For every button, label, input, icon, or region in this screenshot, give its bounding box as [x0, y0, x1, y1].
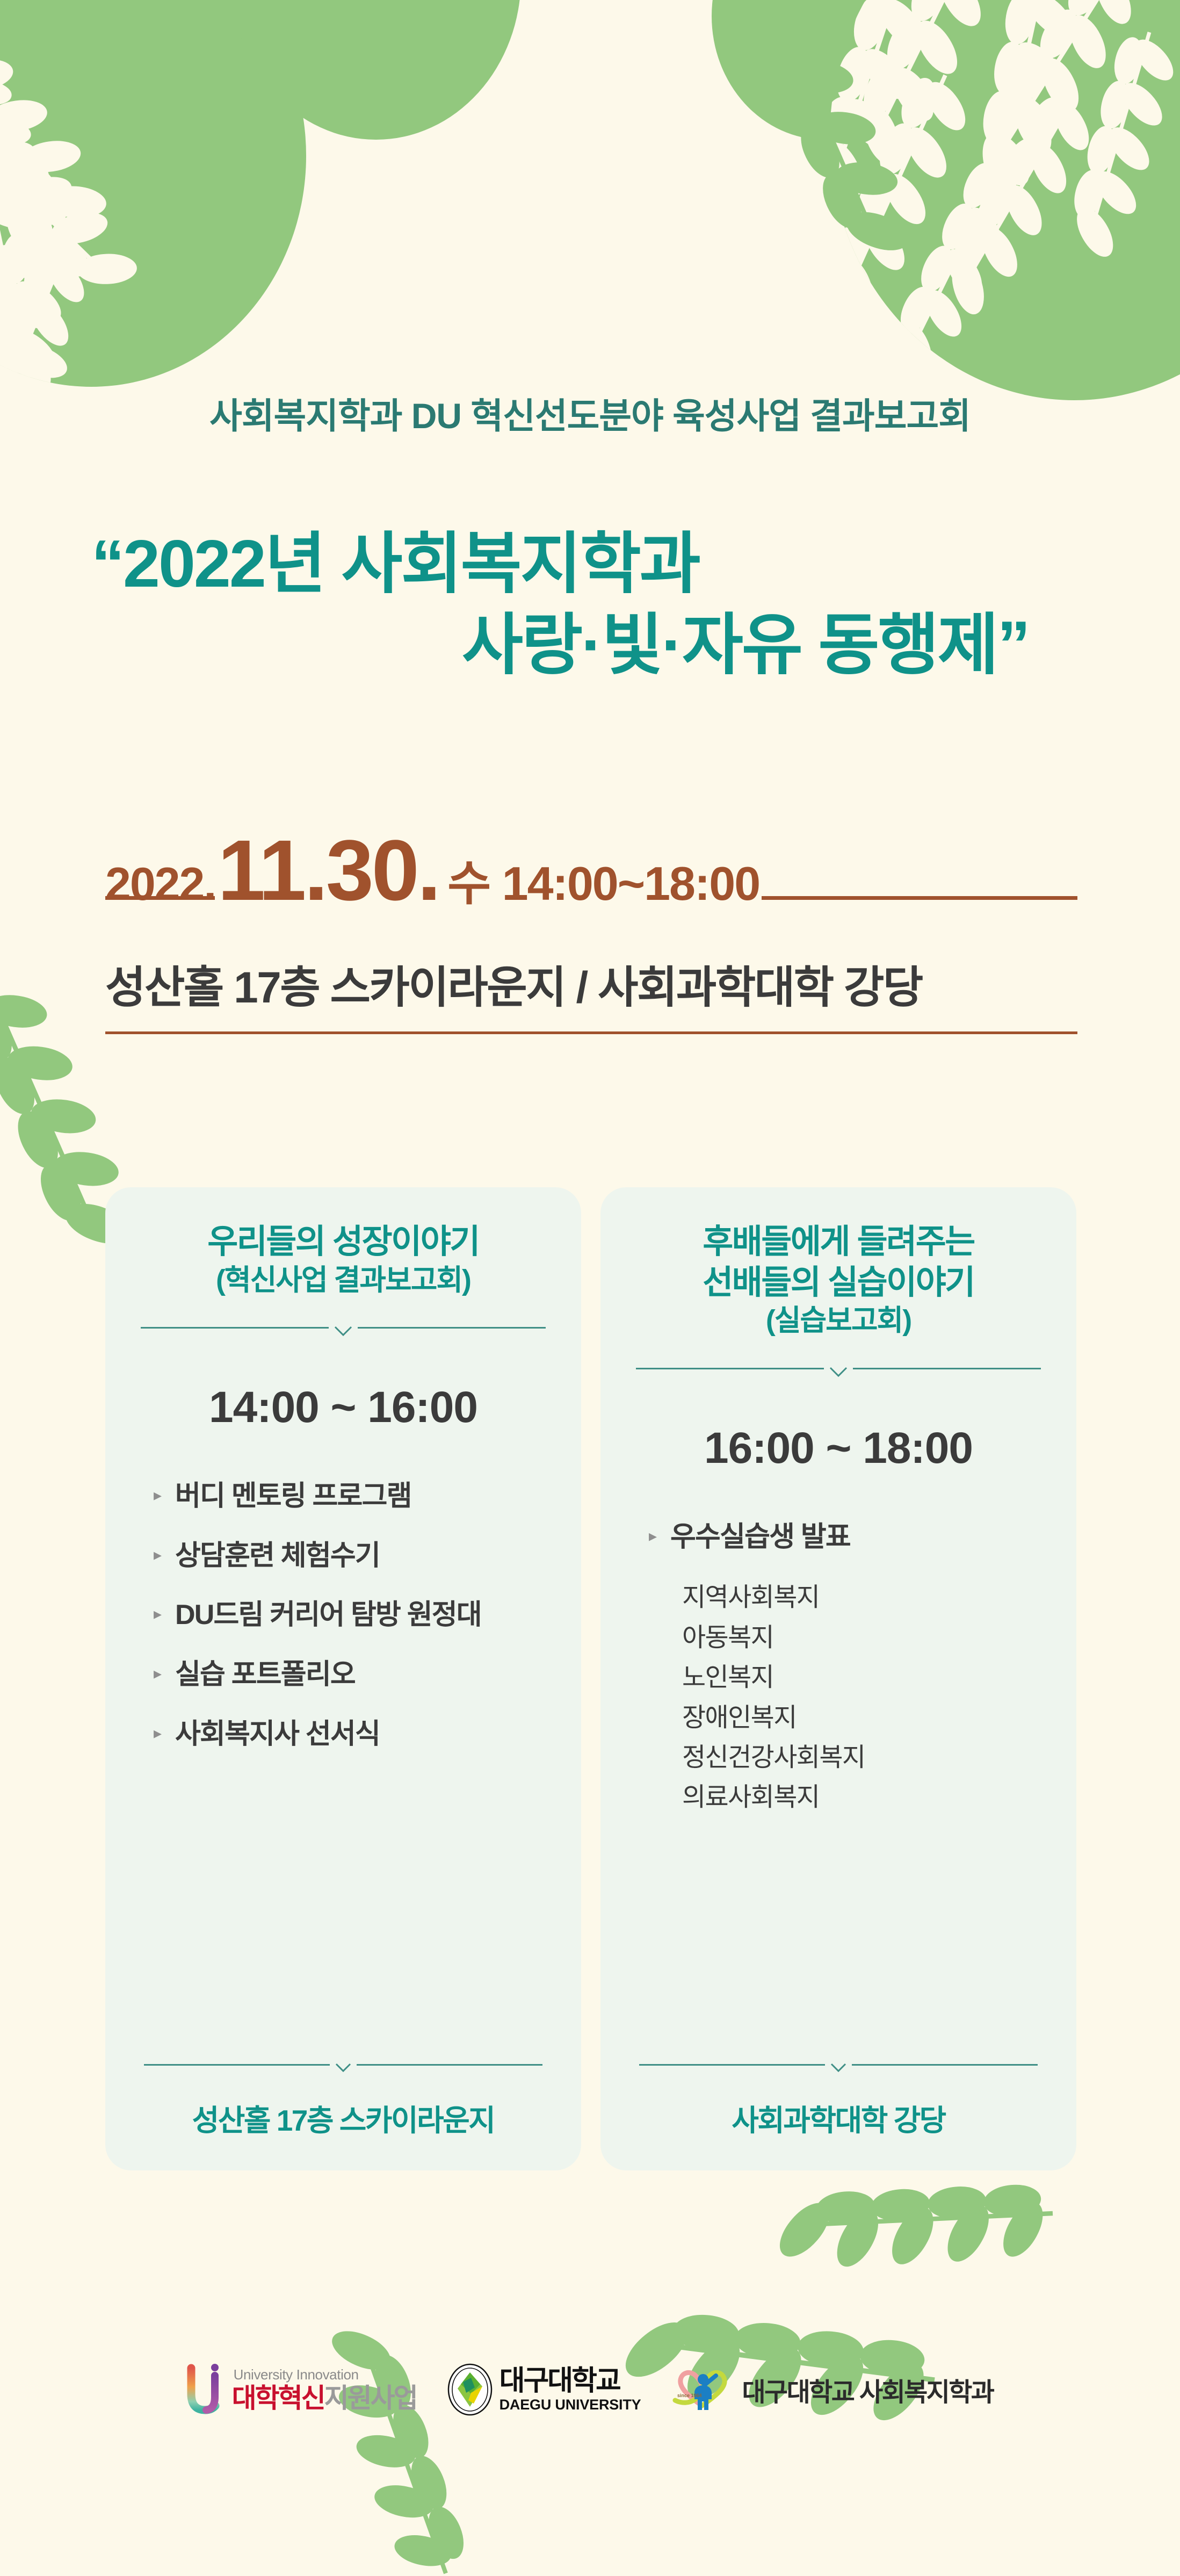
- card-right-time: 16:00 ~ 18:00: [625, 1423, 1052, 1474]
- card-left-footer: 성산홀 17층 스카이라운지: [130, 2060, 556, 2139]
- venue-rule: [105, 1031, 1077, 1034]
- program-card-left[interactable]: 우리들의 성장이야기 (혁신사업 결과보고회) 14:00 ~ 16:00 ▸ …: [105, 1187, 581, 2170]
- list-item-label: 버디 멘토링 프로그램: [175, 1478, 556, 1515]
- card-right-bottom-divider: [639, 2060, 1038, 2077]
- card-right-title-line-1: 후배들에게 들려주는: [625, 1222, 1052, 1262]
- sublist-item: 아동복지: [682, 1618, 1052, 1658]
- list-item-label: 사회복지사 선서식: [175, 1716, 556, 1753]
- list-item-label: 상담훈련 체험수기: [175, 1538, 556, 1575]
- card-left-time: 14:00 ~ 16:00: [130, 1382, 556, 1433]
- sublist-item: 정신건강사회복지: [682, 1738, 1052, 1778]
- title-line-1: “2022년 사회복지학과: [0, 524, 1180, 605]
- list-item-label: 실습 포트폴리오: [175, 1656, 556, 1693]
- date-row: 2022. 11.30. 수 14:00~18:00: [105, 832, 1077, 940]
- date-rule-right: [762, 896, 1077, 900]
- card-right-venue: 사회과학대학 강당: [625, 2096, 1052, 2139]
- triangle-bullet-icon: ▸: [154, 1666, 165, 1682]
- chevron-down-icon: [335, 2062, 351, 2073]
- main-venue-text: 성산홀 17층 스카이라운지 / 사회과학대학 강당: [105, 951, 1077, 1015]
- daegu-university-en-label: DAEGU UNIVERSITY: [499, 2398, 641, 2412]
- page-title: “2022년 사회복지학과 사랑·빛·자유 동행제”: [0, 524, 1180, 687]
- eyebrow-text: 사회복지학과 DU 혁신선도분야 육성사업 결과보고회: [0, 395, 1180, 437]
- program-cards: 우리들의 성장이야기 (혁신사업 결과보고회) 14:00 ~ 16:00 ▸ …: [105, 1187, 1076, 2170]
- triangle-bullet-icon: ▸: [154, 1726, 165, 1742]
- card-left-list: ▸ 버디 멘토링 프로그램 ▸ 상담훈련 체험수기 ▸ DU드림 커리어 탐방 …: [130, 1478, 556, 2060]
- date-year: 2022.: [105, 858, 218, 911]
- chevron-down-icon: [829, 1366, 848, 1378]
- sublist-item: 장애인복지: [682, 1698, 1052, 1738]
- list-item-label: 우수실습생 발표: [670, 1519, 1052, 1556]
- list-item: ▸ DU드림 커리어 탐방 원정대: [154, 1597, 556, 1634]
- social-welfare-department-label: 대구대학교 사회복지학과: [742, 2371, 993, 2408]
- chevron-down-icon: [830, 2062, 846, 2073]
- card-right-title-line-2: 선배들의 실습이야기: [625, 1262, 1052, 1303]
- chevron-down-icon: [334, 1325, 352, 1337]
- heart-person-mark-icon: since 1964: [671, 2366, 735, 2413]
- university-innovation-en-label: University Innovation: [234, 2368, 417, 2382]
- list-item-label: DU드림 커리어 탐방 원정대: [175, 1597, 556, 1634]
- card-left-subtitle: (혁신사업 결과보고회): [130, 1262, 556, 1299]
- daegu-university-seal-icon: [447, 2363, 493, 2416]
- logo-daegu-university: 대구대학교 DAEGU UNIVERSITY: [447, 2363, 641, 2416]
- date-block: 2022. 11.30. 수 14:00~18:00 성산홀 17층 스카이라운…: [105, 832, 1077, 1034]
- card-left-bottom-divider: [144, 2060, 542, 2077]
- card-right-top-divider: [636, 1363, 1041, 1381]
- card-right-sublist: 지역사회복지 아동복지 노인복지 장애인복지 정신건강사회복지 의료사회복지: [649, 1578, 1052, 1817]
- university-innovation-kr-red: 대학혁신: [232, 2383, 324, 2413]
- card-left-title: 우리들의 성장이야기: [130, 1222, 556, 1262]
- poster-header: 사회복지학과 DU 혁신선도분야 육성사업 결과보고회: [0, 395, 1180, 437]
- card-right-subtitle: (실습보고회): [625, 1303, 1052, 1339]
- list-item: ▸ 우수실습생 발표: [649, 1519, 1052, 1556]
- sublist-item: 의료사회복지: [682, 1778, 1052, 1817]
- list-item: ▸ 사회복지사 선서식: [154, 1716, 556, 1753]
- svg-text:since 1964: since 1964: [677, 2393, 702, 2398]
- date-monthday: 11.30.: [218, 832, 439, 909]
- logo-strip: University Innovation 대학혁신지원사업: [0, 2363, 1180, 2416]
- triangle-bullet-icon: ▸: [154, 1488, 165, 1504]
- event-poster: 사회복지학과 DU 혁신선도분야 육성사업 결과보고회 “2022년 사회복지학…: [0, 0, 1180, 2576]
- university-innovation-mark-icon: [187, 2364, 226, 2415]
- card-right-list: ▸ 우수실습생 발표 지역사회복지 아동복지 노인복지 장애인복지 정신건강사회…: [625, 1519, 1052, 2060]
- title-line-2: 사랑·빛·자유 동행제”: [0, 605, 1180, 686]
- logo-university-innovation: University Innovation 대학혁신지원사업: [187, 2364, 417, 2415]
- card-left-top-divider: [141, 1322, 546, 1340]
- card-left-venue: 성산홀 17층 스카이라운지: [130, 2096, 556, 2139]
- list-item: ▸ 버디 멘토링 프로그램: [154, 1478, 556, 1515]
- triangle-bullet-icon: ▸: [154, 1606, 165, 1622]
- sublist-item: 노인복지: [682, 1658, 1052, 1698]
- university-innovation-kr-gray: 지원사업: [324, 2383, 417, 2413]
- list-item: ▸ 실습 포트폴리오: [154, 1656, 556, 1693]
- program-card-right[interactable]: 후배들에게 들려주는 선배들의 실습이야기 (실습보고회) 16:00 ~ 18…: [600, 1187, 1076, 2170]
- card-right-footer: 사회과학대학 강당: [625, 2060, 1052, 2139]
- date-dow-time: 수 14:00~18:00: [439, 846, 759, 914]
- triangle-bullet-icon: ▸: [154, 1547, 165, 1563]
- list-item: ▸ 상담훈련 체험수기: [154, 1538, 556, 1575]
- sublist-item: 지역사회복지: [682, 1578, 1052, 1618]
- logo-social-welfare-department: since 1964 대구대학교 사회복지학과: [671, 2366, 993, 2413]
- daegu-university-kr-label: 대구대학교: [499, 2367, 641, 2395]
- triangle-bullet-icon: ▸: [649, 1528, 661, 1545]
